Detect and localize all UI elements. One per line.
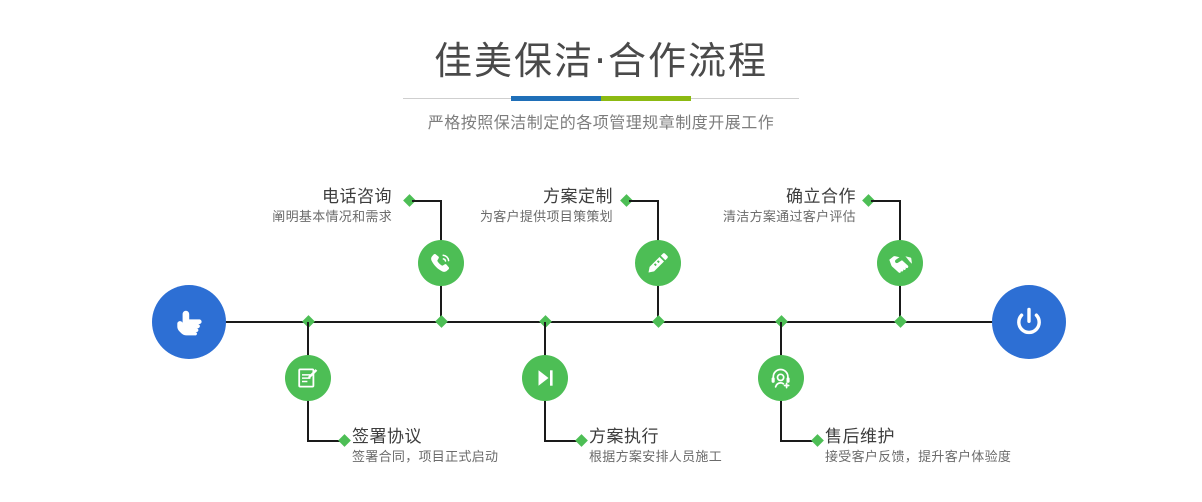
step-3-desc: 为客户提供项目策策划	[480, 208, 613, 228]
step-1-axis-diamond	[435, 315, 448, 328]
step-4-node[interactable]	[522, 355, 568, 401]
timeline-end-endpoint[interactable]	[992, 285, 1066, 359]
step-3-title: 方案定制	[480, 186, 613, 208]
handshake-icon	[886, 249, 914, 277]
step-6-desc: 接受客户反馈，提升客户体验度	[825, 448, 1011, 468]
step-6-label: 售后维护 接受客户反馈，提升客户体验度	[825, 426, 1011, 468]
step-5-node[interactable]	[877, 240, 923, 286]
step-1-title: 电话咨询	[272, 186, 392, 208]
step-5-axis-diamond	[894, 315, 907, 328]
step-5-desc: 清洁方案通过客户评估	[723, 208, 856, 228]
step-1-node[interactable]	[418, 240, 464, 286]
step-2-hline	[307, 440, 342, 442]
step-5-label: 确立合作 清洁方案通过客户评估	[723, 186, 856, 228]
step-2-label-diamond	[338, 434, 351, 447]
process-timeline: 电话咨询 阐明基本情况和需求 方案定制 为客户提供项目策策划	[0, 0, 1202, 502]
phone-call-icon	[428, 250, 454, 276]
power-icon	[1009, 302, 1049, 342]
step-2-label: 签署协议 签署合同，项目正式启动	[352, 426, 498, 468]
step-5-title: 确立合作	[723, 186, 856, 208]
step-4-hline	[544, 440, 579, 442]
step-4-desc: 根据方案安排人员施工	[589, 448, 722, 468]
timeline-start-endpoint[interactable]	[152, 285, 226, 359]
step-1-hline	[412, 200, 442, 202]
step-6-title: 售后维护	[825, 426, 1011, 448]
step-3-label: 方案定制 为客户提供项目策策划	[480, 186, 613, 228]
step-3-node[interactable]	[635, 240, 681, 286]
step-1-desc: 阐明基本情况和需求	[272, 208, 392, 228]
customer-support-icon	[768, 365, 794, 391]
step-4-label-diamond	[575, 434, 588, 447]
document-edit-icon	[295, 365, 321, 391]
play-skip-icon	[532, 365, 558, 391]
step-5-hline	[871, 200, 901, 202]
step-6-node[interactable]	[758, 355, 804, 401]
step-4-label: 方案执行 根据方案安排人员施工	[589, 426, 722, 468]
pointing-hand-icon	[169, 302, 209, 342]
step-1-label: 电话咨询 阐明基本情况和需求	[272, 186, 392, 228]
pencil-ruler-icon	[645, 250, 671, 276]
step-3-axis-diamond	[652, 315, 665, 328]
flowchart-page: 佳美保洁·合作流程 严格按照保洁制定的各项管理规章制度开展工作	[0, 0, 1202, 502]
step-6-hline	[780, 440, 815, 442]
step-4-title: 方案执行	[589, 426, 722, 448]
step-6-label-diamond	[811, 434, 824, 447]
step-2-title: 签署协议	[352, 426, 498, 448]
step-3-hline	[629, 200, 659, 202]
step-2-node[interactable]	[285, 355, 331, 401]
step-2-desc: 签署合同，项目正式启动	[352, 448, 498, 468]
